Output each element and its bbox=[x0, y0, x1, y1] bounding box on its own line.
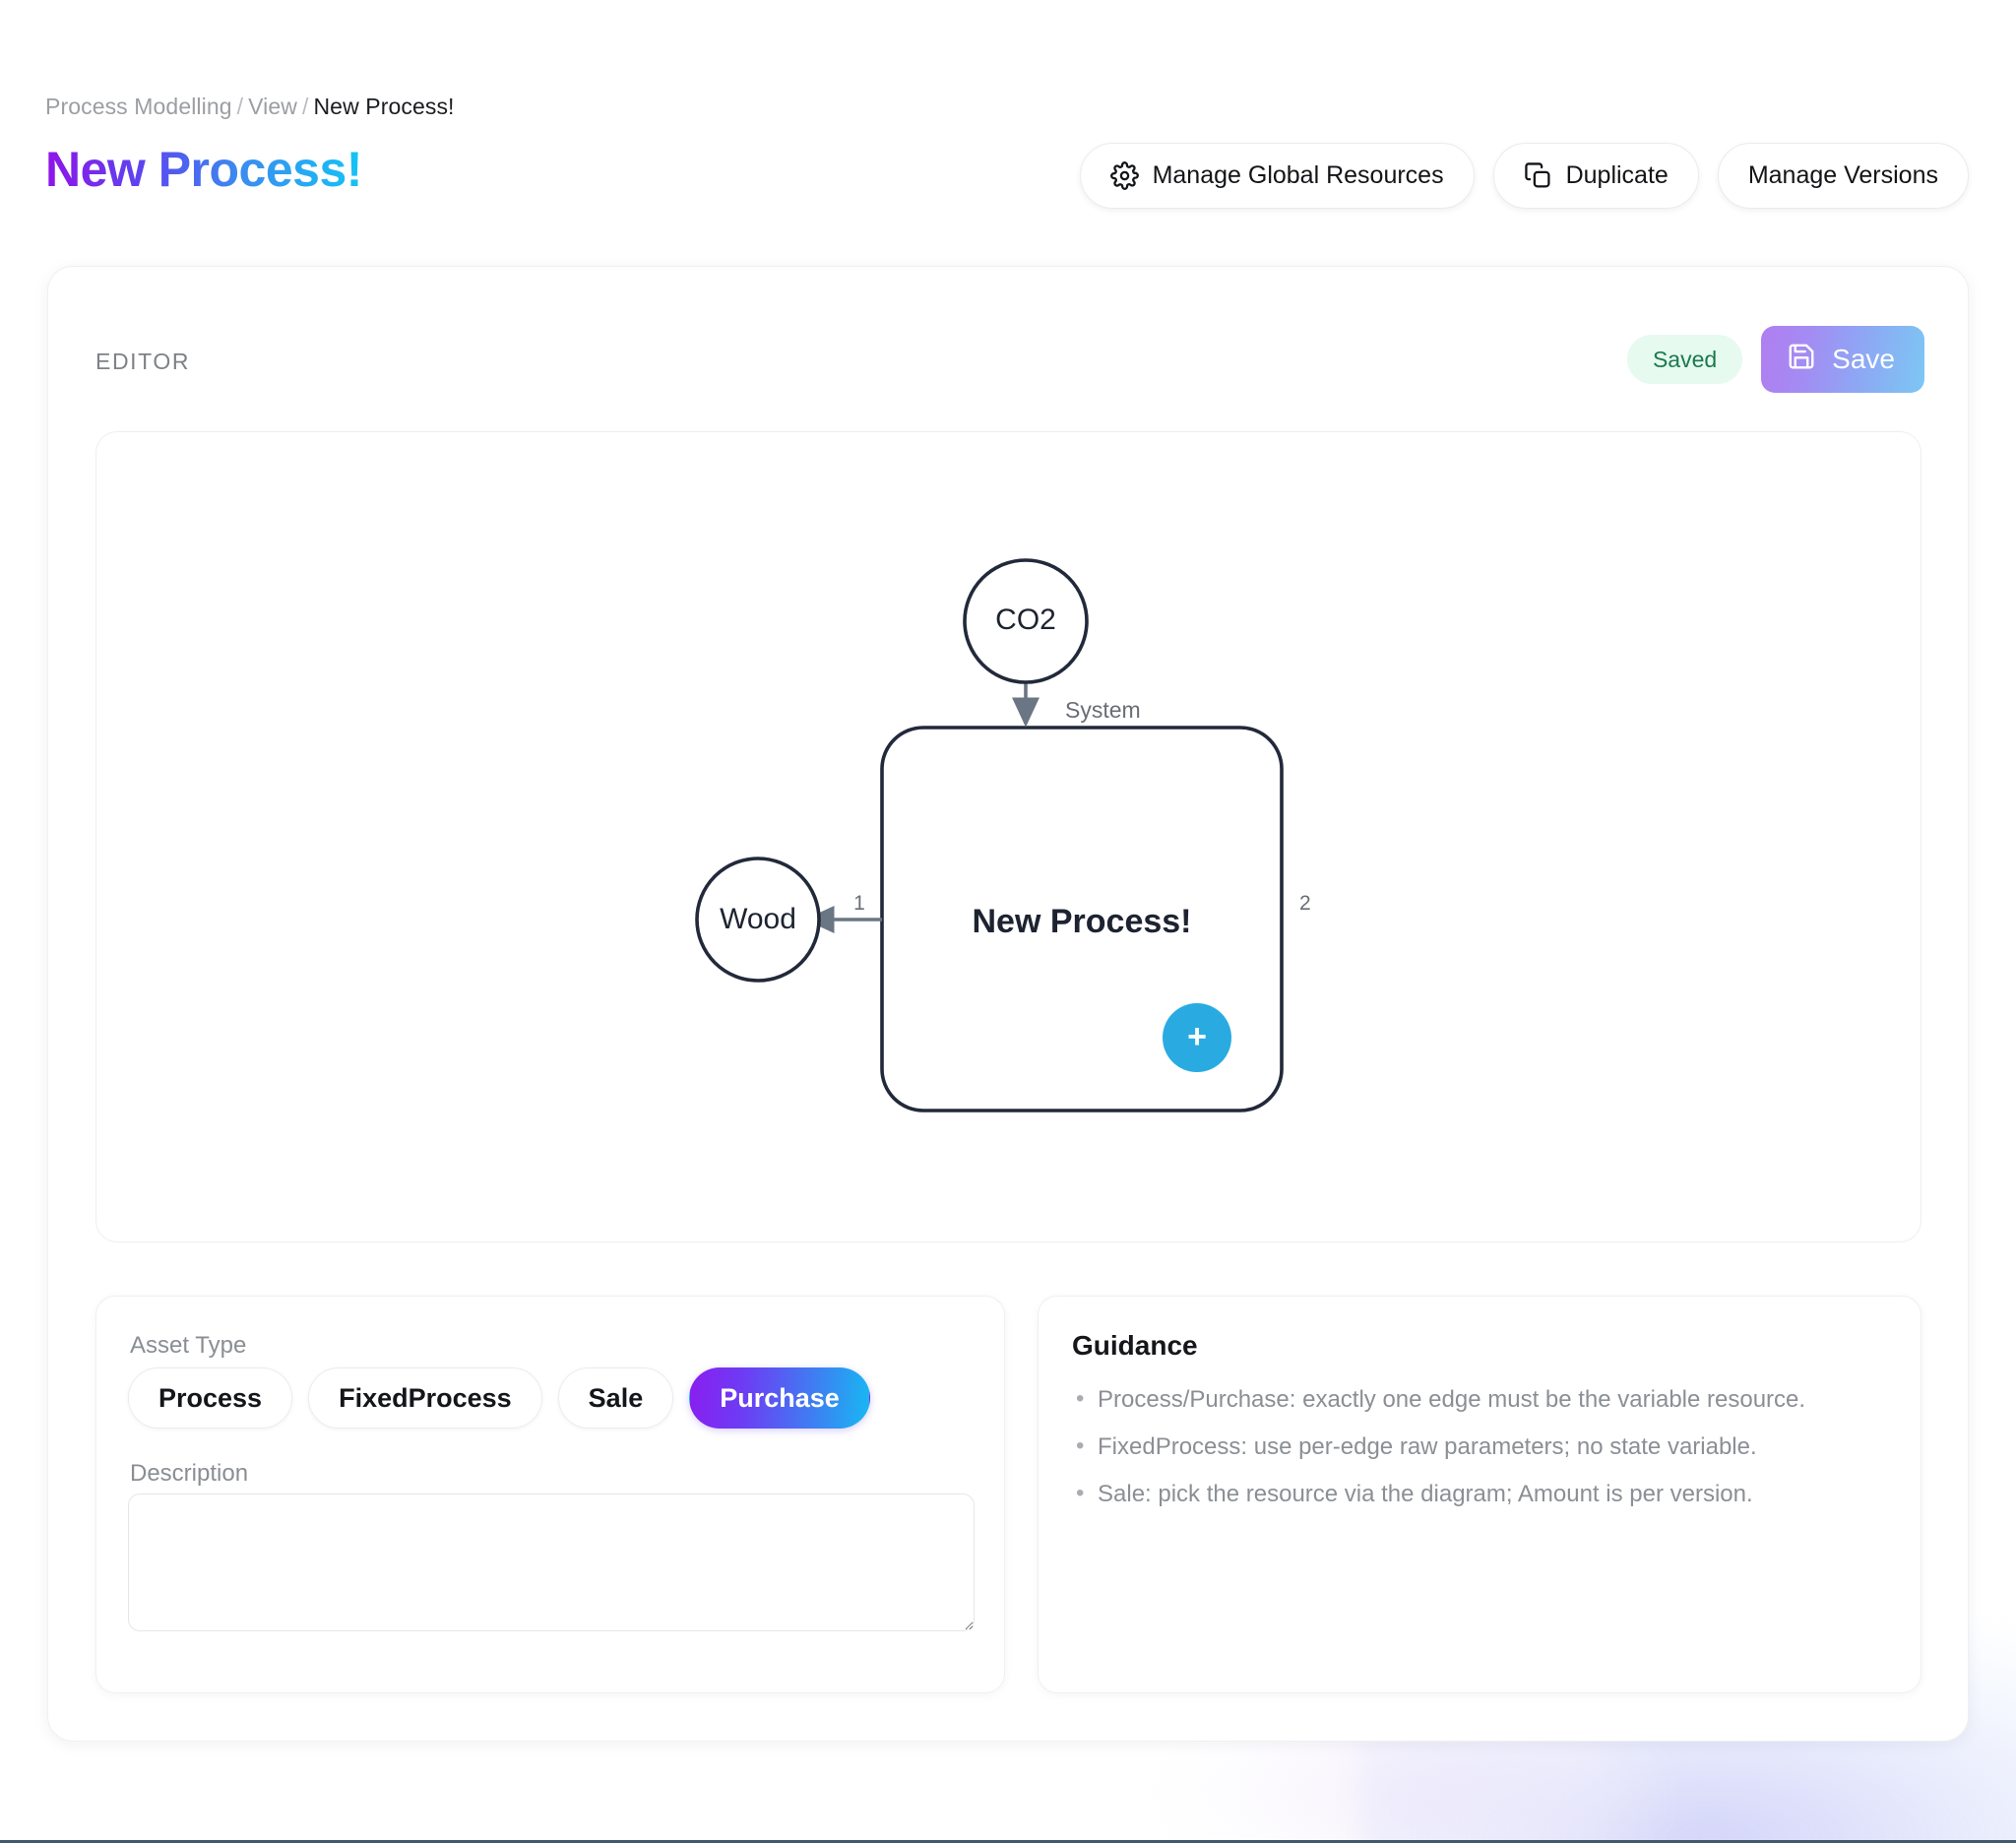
save-floppy-icon bbox=[1787, 342, 1816, 378]
breadcrumb-item-current: New Process! bbox=[313, 94, 454, 119]
asset-type-chip-group: Process FixedProcess Sale Purchase bbox=[128, 1367, 870, 1429]
gear-icon bbox=[1110, 161, 1139, 190]
page-header: Process Modelling/View/New Process! New … bbox=[0, 0, 2016, 258]
guidance-list: Process/Purchase: exactly one edge must … bbox=[1072, 1385, 1889, 1527]
breadcrumb-item-process-modelling[interactable]: Process Modelling bbox=[45, 94, 232, 119]
manage-versions-button[interactable]: Manage Versions bbox=[1718, 143, 1969, 209]
guidance-title: Guidance bbox=[1072, 1330, 1198, 1362]
breadcrumb: Process Modelling/View/New Process! bbox=[45, 94, 455, 120]
add-node-button[interactable]: + bbox=[1163, 1003, 1231, 1072]
duplicate-label: Duplicate bbox=[1566, 161, 1669, 190]
asset-details-panel: Asset Type Process FixedProcess Sale Pur… bbox=[95, 1296, 1005, 1693]
duplicate-button[interactable]: Duplicate bbox=[1493, 143, 1699, 209]
guidance-item: Sale: pick the resource via the diagram;… bbox=[1072, 1480, 1889, 1509]
manage-versions-label: Manage Versions bbox=[1748, 161, 1938, 190]
manage-global-resources-label: Manage Global Resources bbox=[1153, 161, 1444, 190]
asset-type-option-fixedprocess[interactable]: FixedProcess bbox=[308, 1367, 542, 1429]
breadcrumb-separator: / bbox=[297, 94, 314, 119]
app-root: Process Modelling/View/New Process! New … bbox=[0, 0, 2016, 1843]
save-button[interactable]: Save bbox=[1761, 326, 1924, 393]
editor-actions: Saved Save bbox=[1627, 326, 1924, 393]
copy-icon bbox=[1524, 161, 1552, 190]
editor-section-label: EDITOR bbox=[95, 349, 190, 375]
description-input[interactable] bbox=[128, 1493, 975, 1631]
asset-type-option-process[interactable]: Process bbox=[128, 1367, 292, 1429]
breadcrumb-item-view[interactable]: View bbox=[248, 94, 297, 119]
node-wood-label: Wood bbox=[720, 903, 796, 935]
page-title: New Process! bbox=[45, 141, 362, 198]
asset-type-option-sale[interactable]: Sale bbox=[558, 1367, 674, 1429]
node-co2-label: CO2 bbox=[995, 604, 1056, 636]
header-actions: Manage Global Resources Duplicate Manage… bbox=[1080, 143, 1969, 209]
editor-card: EDITOR Saved Save bbox=[47, 266, 1969, 1742]
save-button-label: Save bbox=[1832, 344, 1895, 375]
guidance-panel: Guidance Process/Purchase: exactly one e… bbox=[1038, 1296, 1921, 1693]
edge-label-1: 1 bbox=[853, 892, 865, 915]
status-badge: Saved bbox=[1627, 335, 1742, 384]
asset-type-label: Asset Type bbox=[130, 1332, 246, 1360]
detail-panels: Asset Type Process FixedProcess Sale Pur… bbox=[95, 1296, 1921, 1693]
edge-label-system: System bbox=[1065, 697, 1141, 723]
manage-global-resources-button[interactable]: Manage Global Resources bbox=[1080, 143, 1475, 209]
guidance-item: Process/Purchase: exactly one edge must … bbox=[1072, 1385, 1889, 1415]
diagram-svg: CO2 Wood New Process! System 1 2 bbox=[96, 432, 1921, 1242]
port-label-2: 2 bbox=[1299, 892, 1311, 915]
node-process-label: New Process! bbox=[973, 903, 1192, 940]
guidance-item: FixedProcess: use per-edge raw parameter… bbox=[1072, 1432, 1889, 1462]
diagram-canvas[interactable]: CO2 Wood New Process! System 1 2 + bbox=[95, 431, 1921, 1242]
asset-type-option-purchase[interactable]: Purchase bbox=[689, 1367, 870, 1429]
breadcrumb-separator: / bbox=[232, 94, 249, 119]
description-label: Description bbox=[130, 1460, 248, 1488]
